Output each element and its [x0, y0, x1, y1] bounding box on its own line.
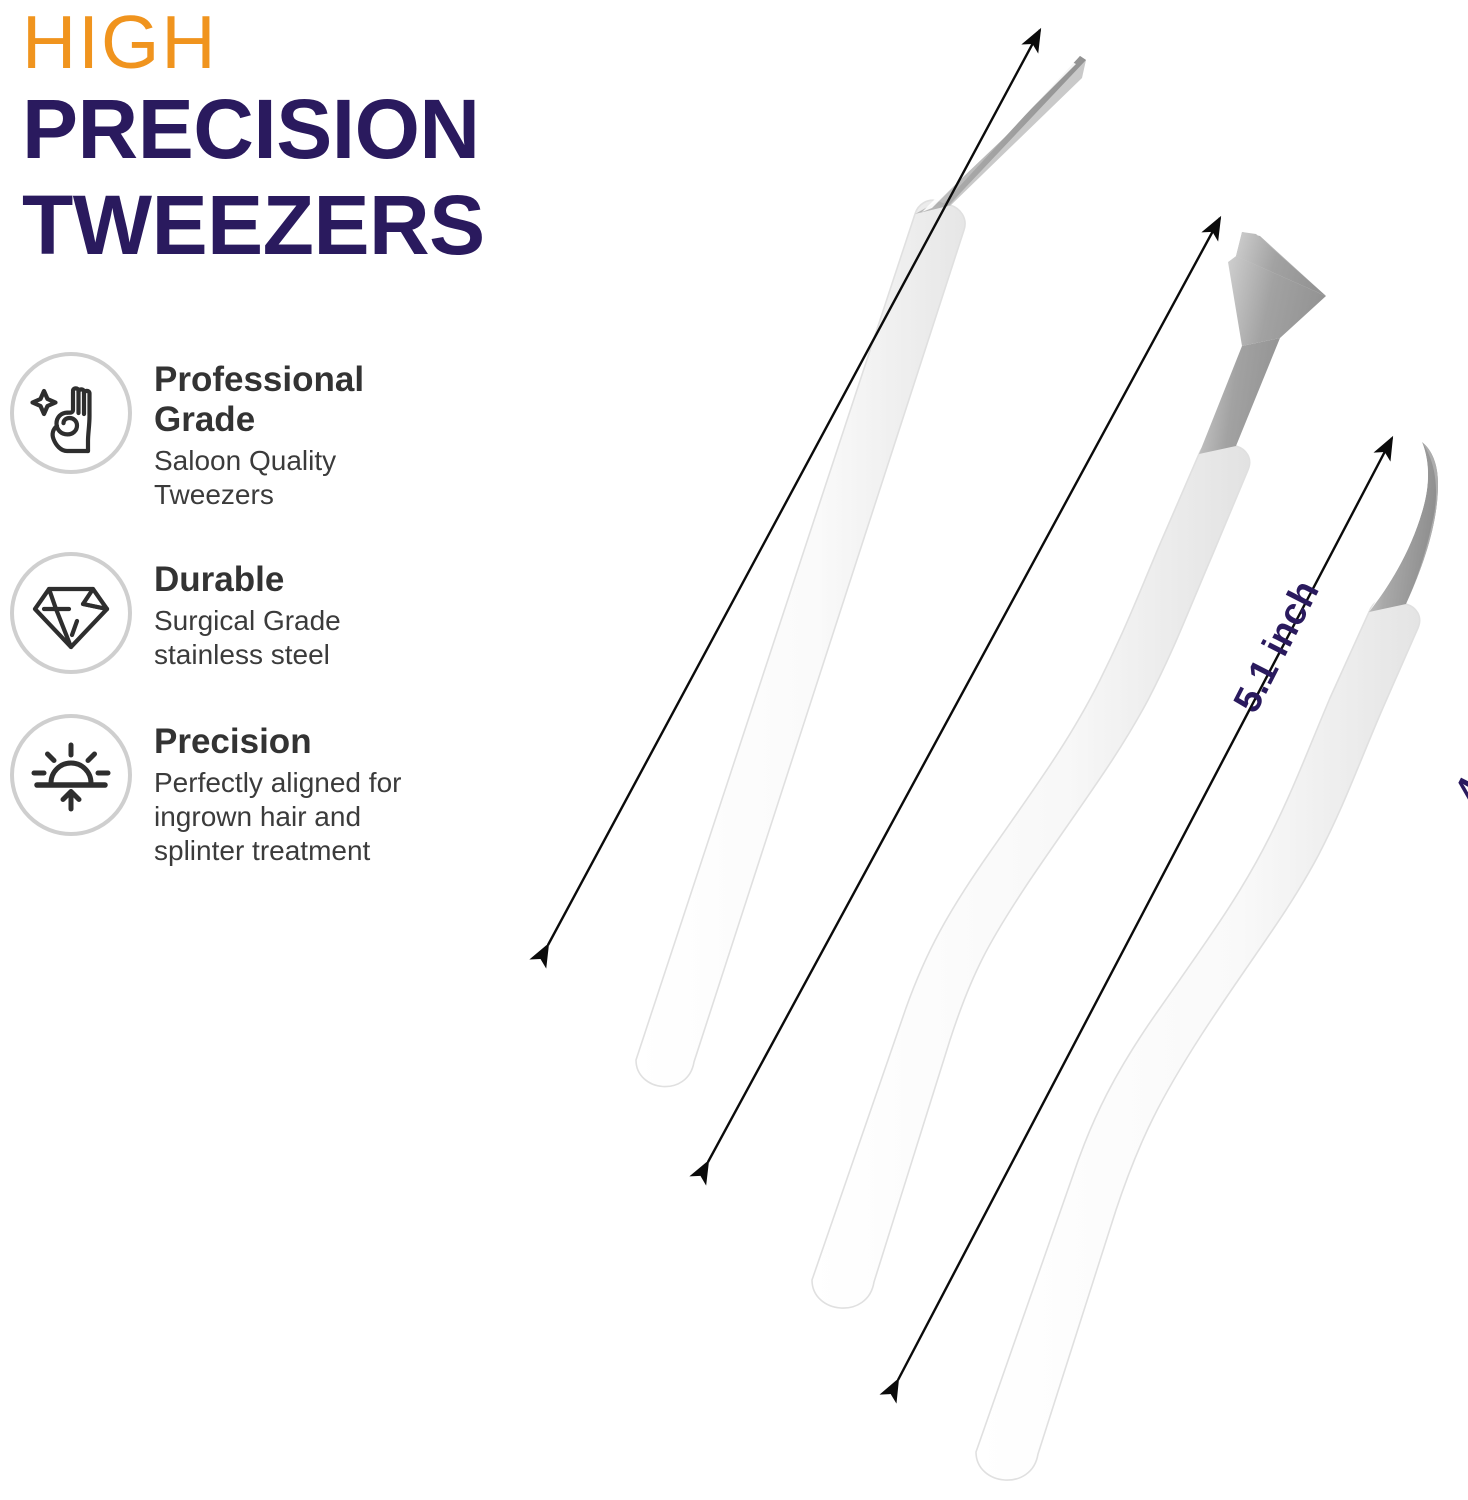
product-image-area: 5.1 inch 4.6 inch 4.6 inch	[520, 0, 1468, 1500]
diamond-icon	[10, 552, 132, 674]
feature-text-professional-grade: Professional Grade Saloon Quality Tweeze…	[132, 352, 464, 512]
feature-title: Durable	[154, 560, 444, 600]
feature-item-professional-grade: Professional Grade Saloon Quality Tweeze…	[10, 352, 480, 512]
feature-text-durable: Durable Surgical Grade stainless steel	[132, 552, 444, 672]
feature-description: Perfectly aligned for ingrown hair and s…	[154, 766, 454, 868]
product-infographic: HIGH PRECISION TWEEZERS	[0, 0, 1468, 1500]
dimension-line-1	[548, 30, 1040, 945]
feature-list: Professional Grade Saloon Quality Tweeze…	[10, 352, 480, 908]
curved-tip-tweezer	[976, 438, 1438, 1480]
feature-description: Saloon Quality Tweezers	[154, 444, 444, 512]
feature-item-durable: Durable Surgical Grade stainless steel	[10, 552, 480, 674]
feature-text-precision: Precision Perfectly aligned for ingrown …	[132, 714, 454, 868]
feature-item-precision: Precision Perfectly aligned for ingrown …	[10, 714, 480, 868]
tweezers-illustration	[520, 0, 1468, 1500]
sunrise-arrow-icon	[10, 714, 132, 836]
left-content-column: HIGH PRECISION TWEEZERS	[0, 0, 540, 1500]
feature-description: Surgical Grade stainless steel	[154, 604, 444, 672]
feature-title: Precision	[154, 722, 454, 762]
pointed-tip-tweezer	[636, 56, 1086, 1087]
feature-title: Professional Grade	[154, 360, 464, 440]
ok-hand-sparkle-icon	[10, 352, 132, 474]
